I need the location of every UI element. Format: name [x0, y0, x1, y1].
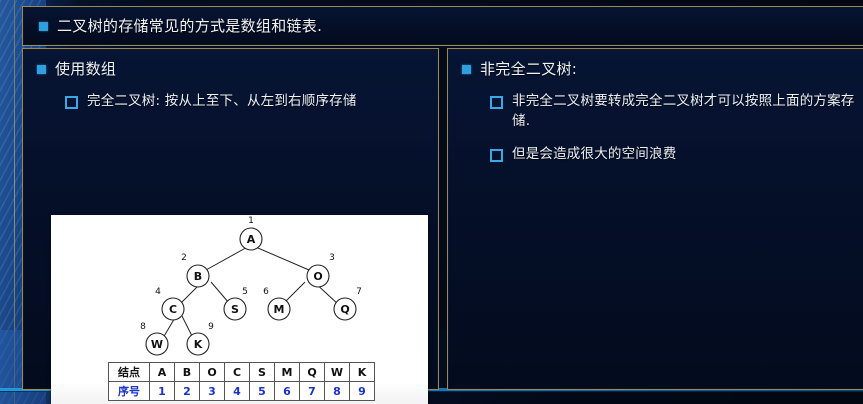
- svg-text:3: 3: [329, 253, 335, 263]
- table-cell: 2: [175, 382, 200, 401]
- bullet-hollow-square-icon: [490, 149, 503, 162]
- left-gold-divider-line: [14, 0, 15, 404]
- row-header-nodes: 结点: [109, 363, 150, 382]
- table-cell: M: [275, 363, 300, 382]
- table-row: 序号 1 2 3 4 5 6 7 8 9: [109, 382, 375, 401]
- top-banner-text: 二叉树的存储常见的方式是数组和链表.: [57, 16, 322, 37]
- left-content-panel: 使用数组 完全二叉树: 按从上至下、从左到右顺序存储: [22, 48, 439, 390]
- left-bullet-2: 完全二叉树: 按从上至下、从左到右顺序存储: [65, 91, 357, 111]
- svg-text:B: B: [194, 270, 202, 283]
- svg-text:W: W: [151, 338, 163, 351]
- svg-text:6: 6: [263, 287, 269, 297]
- svg-text:9: 9: [208, 322, 214, 332]
- svg-text:Q: Q: [340, 303, 349, 316]
- slide-canvas: 二叉树的存储常见的方式是数组和链表. 使用数组 完全二叉树: 按从上至下、从左到…: [0, 0, 863, 404]
- top-banner-bullet: 二叉树的存储常见的方式是数组和链表.: [39, 16, 322, 37]
- svg-text:S: S: [231, 303, 239, 316]
- bullet-hollow-square-icon: [490, 96, 503, 109]
- left-figure-box: A B O C S M Q W K 1 2 3 4 5 6 7: [51, 215, 428, 404]
- right-bullet-3-label: 但是会造成很大的空间浪费: [512, 144, 676, 164]
- table-cell: Q: [300, 363, 325, 382]
- table-cell: 9: [350, 382, 375, 401]
- table-cell: 8: [325, 382, 350, 401]
- bullet-square-icon: [462, 65, 471, 74]
- right-bullet-1: 非完全二叉树:: [462, 59, 577, 80]
- svg-text:A: A: [247, 233, 256, 246]
- left-bullet-1-label: 使用数组: [55, 59, 116, 80]
- table-cell: A: [150, 363, 175, 382]
- table-cell: 6: [275, 382, 300, 401]
- svg-text:1: 1: [248, 216, 254, 226]
- table-cell: S: [250, 363, 275, 382]
- table-cell: 1: [150, 382, 175, 401]
- table-cell: C: [225, 363, 250, 382]
- table-cell: 3: [200, 382, 225, 401]
- table-cell: 5: [250, 382, 275, 401]
- svg-text:M: M: [274, 303, 285, 316]
- svg-text:O: O: [313, 270, 322, 283]
- table-cell: O: [200, 363, 225, 382]
- table-cell: W: [325, 363, 350, 382]
- svg-text:7: 7: [356, 287, 362, 297]
- right-bullet-2: 非完全二叉树要转成完全二叉树才可以按照上面的方案存储.: [490, 91, 858, 131]
- right-bullet-1-label: 非完全二叉树:: [480, 59, 577, 80]
- right-content-panel: 非完全二叉树: 非完全二叉树要转成完全二叉树才可以按照上面的方案存储. 但是会造…: [447, 48, 863, 390]
- svg-text:8: 8: [140, 322, 146, 332]
- table-cell: 7: [300, 382, 325, 401]
- svg-text:2: 2: [181, 253, 187, 263]
- svg-text:5: 5: [242, 287, 248, 297]
- bullet-square-icon: [39, 22, 48, 31]
- table-cell: B: [175, 363, 200, 382]
- left-storage-table: 结点 A B O C S M Q W K 序号 1 2 3 4: [108, 362, 375, 401]
- svg-text:K: K: [194, 338, 203, 351]
- bullet-square-icon: [37, 65, 46, 74]
- right-bullet-3: 但是会造成很大的空间浪费: [490, 144, 676, 164]
- top-banner-panel: 二叉树的存储常见的方式是数组和链表.: [22, 6, 863, 46]
- left-binary-tree-diagram: A B O C S M Q W K 1 2 3 4 5 6 7: [51, 215, 428, 360]
- left-bullet-1: 使用数组: [37, 59, 116, 80]
- bullet-hollow-square-icon: [65, 96, 78, 109]
- row-header-indices: 序号: [109, 382, 150, 401]
- svg-text:4: 4: [155, 287, 161, 297]
- svg-text:C: C: [169, 303, 177, 316]
- table-row: 结点 A B O C S M Q W K: [109, 363, 375, 382]
- table-cell: K: [350, 363, 375, 382]
- left-bullet-2-label: 完全二叉树: 按从上至下、从左到右顺序存储: [87, 91, 357, 111]
- right-bullet-2-label: 非完全二叉树要转成完全二叉树才可以按照上面的方案存储.: [512, 91, 858, 131]
- table-cell: 4: [225, 382, 250, 401]
